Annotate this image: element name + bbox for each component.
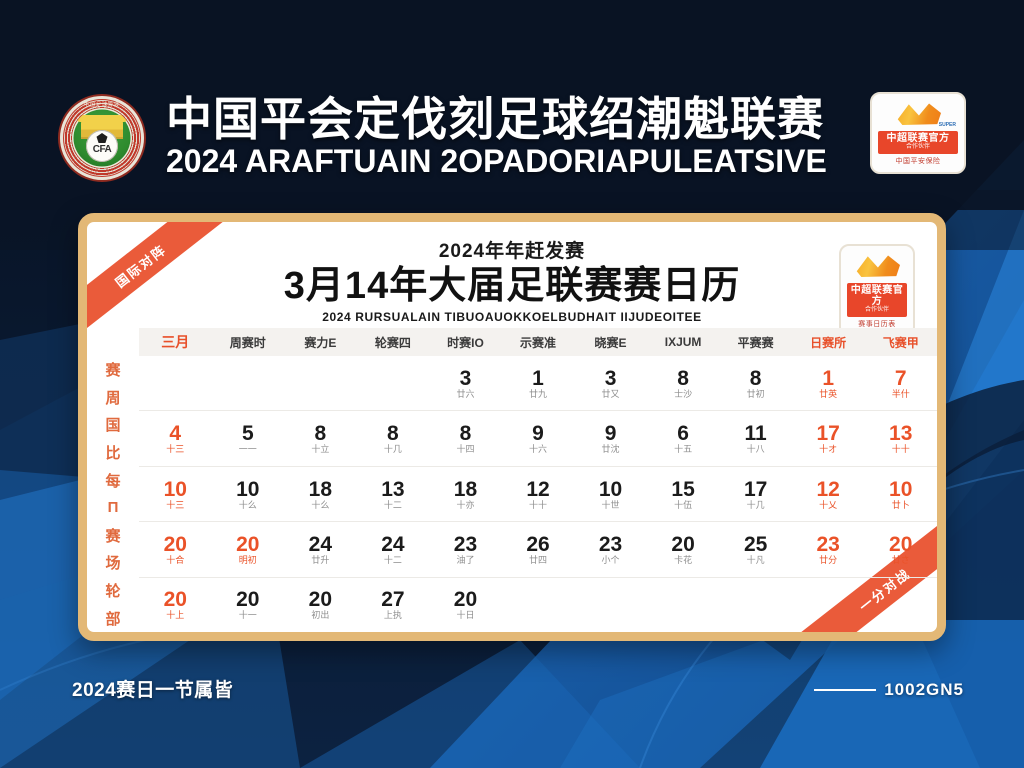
lunar-label: 十オ — [819, 445, 837, 454]
calendar-day-cell[interactable]: 1廿英 — [792, 356, 865, 410]
lunar-label: 十日 — [456, 611, 474, 620]
calendar-day-cell[interactable]: 18十亦 — [429, 467, 502, 521]
calendar-day-cell[interactable]: 4十三 — [139, 411, 212, 465]
side-label-5: П — [87, 494, 139, 522]
day-number: 13 — [381, 479, 404, 500]
calendar-grid: 三月周赛时赛力E轮赛四时赛IO示赛准晓赛EIXJUM平赛赛日赛所飞赛甲 3廿六1… — [139, 328, 937, 632]
lunar-label: 廿卜 — [892, 501, 910, 510]
day-number: 25 — [744, 534, 767, 555]
lunar-label: 明初 — [239, 556, 257, 565]
header-sponsor-badge: SUPER 中超联赛官方 合作伙伴 中国平安保险 — [870, 92, 966, 174]
day-number: 8 — [315, 423, 327, 444]
calendar-day-cell[interactable]: 3廿六 — [429, 356, 502, 410]
calendar-title: 3月14年大届足联赛赛日历 — [87, 265, 937, 308]
sponsor-band-line2: 合作伙伴 — [881, 144, 955, 151]
day-number: 26 — [526, 534, 549, 555]
calendar-day-cell[interactable]: 10十三 — [139, 467, 212, 521]
lunar-label: 廿升 — [311, 556, 329, 565]
calendar-week-row: 3廿六1廿九3廿又8士沙8廿初1廿英7半什 — [139, 356, 937, 411]
flame-logo-icon — [854, 254, 900, 278]
day-number: 20 — [236, 589, 259, 610]
lunar-label: 十三 — [166, 501, 184, 510]
day-number: 10 — [236, 479, 259, 500]
weekday-header-10: 飞赛甲 — [864, 328, 937, 356]
sponsor-logo-sub: SUPER — [939, 122, 956, 128]
calendar-pre-title: 2024年年赶发赛 — [87, 236, 937, 263]
card-sponsor-logo-wrap — [847, 251, 907, 281]
sponsor-footer-text: 中国平安保险 — [896, 156, 941, 166]
side-label-6: 赛 — [87, 522, 139, 550]
lunar-label: 小个 — [602, 556, 620, 565]
lunar-label: 廿四 — [529, 556, 547, 565]
day-number: 6 — [677, 423, 689, 444]
cfa-crest-logo: CFA 中国足球协会 — [60, 96, 144, 180]
poster-canvas: CFA 中国足球协会 中国平会定伐刻足球绍潮魁联赛 2024 ARAFTUAIN… — [0, 0, 1024, 768]
lunar-label: 十立 — [311, 445, 329, 454]
card-sponsor-band-line2: 合作伙伴 — [850, 307, 904, 314]
lunar-label: 十六 — [529, 445, 547, 454]
calendar-day-cell[interactable]: 24廿升 — [284, 522, 357, 576]
calendar-weekday-header: 三月周赛时赛力E轮赛四时赛IO示赛准晓赛EIXJUM平赛赛日赛所飞赛甲 — [139, 328, 937, 356]
day-number: 9 — [532, 423, 544, 444]
side-spacer — [87, 328, 139, 356]
lunar-label: 上执 — [384, 611, 402, 620]
calendar-day-cell[interactable]: 13十二 — [357, 467, 430, 521]
day-number: 3 — [605, 368, 617, 389]
side-label-7: 场 — [87, 549, 139, 577]
poster-title-cn: 中国平会定伐刻足球绍潮魁联赛 — [166, 96, 827, 144]
side-label-3: 比 — [87, 439, 139, 467]
lunar-label: 十八 — [747, 445, 765, 454]
calendar-day-cell[interactable]: 10廿卜 — [864, 467, 937, 521]
lunar-label: 廿英 — [819, 390, 837, 399]
lunar-label: 十亦 — [456, 501, 474, 510]
lunar-label: 十几 — [384, 445, 402, 454]
lunar-label: 十伍 — [674, 501, 692, 510]
side-label-1: 周 — [87, 384, 139, 412]
day-number: 10 — [889, 479, 912, 500]
side-label-8: 轮 — [87, 577, 139, 605]
weekday-header-1: 周赛时 — [212, 328, 285, 356]
day-number: 18 — [454, 479, 477, 500]
day-number: 13 — [889, 423, 912, 444]
poster-title-en: 2024 ARAFTUAIN 2OPADORIAPULEATSIVE — [166, 144, 827, 179]
calendar-day-cell[interactable]: 13十十 — [864, 411, 937, 465]
lunar-label: 廿沈 — [602, 445, 620, 454]
side-label-4: 每 — [87, 466, 139, 494]
calendar-day-cell[interactable]: 20廿さ — [864, 522, 937, 576]
side-label-2: 国 — [87, 411, 139, 439]
lunar-label: 十上 — [166, 611, 184, 620]
lunar-label: 十十 — [529, 501, 547, 510]
calendar-day-cell[interactable]: 8廿初 — [719, 356, 792, 410]
calendar-week-row: 4十三5一一8十立8十几8十四9十六9廿沈6十五11十八17十オ13十十 — [139, 411, 937, 466]
side-label-9: 部 — [87, 604, 139, 632]
calendar-day-cell[interactable]: 20十上 — [139, 578, 212, 632]
calendar-day-cell[interactable]: 10十么 — [212, 467, 285, 521]
calendar-week-row: 20十上20十一20初出27上执20十日 — [139, 578, 937, 632]
day-number: 3 — [460, 368, 472, 389]
lunar-label: 十乂 — [819, 501, 837, 510]
lunar-label: 十世 — [602, 501, 620, 510]
flame-logo-icon — [895, 102, 941, 126]
calendar-day-cell[interactable]: 15十伍 — [647, 467, 720, 521]
day-number: 23 — [599, 534, 622, 555]
calendar-day-cell[interactable]: 20卡花 — [647, 522, 720, 576]
lunar-label: 十二 — [384, 556, 402, 565]
calendar-day-cell[interactable]: 1廿九 — [502, 356, 575, 410]
day-number: 17 — [744, 479, 767, 500]
day-number: 20 — [164, 589, 187, 610]
day-number: 5 — [242, 423, 254, 444]
weekday-header-4: 时赛IO — [429, 328, 502, 356]
lunar-label: 十么 — [311, 501, 329, 510]
weekday-header-6: 晓赛E — [574, 328, 647, 356]
calendar-day-cell[interactable]: 3廿又 — [574, 356, 647, 410]
calendar-day-cell[interactable]: 24十二 — [357, 522, 430, 576]
day-number: 23 — [817, 534, 840, 555]
day-number: 8 — [387, 423, 399, 444]
footer-rule-divider — [814, 689, 876, 691]
calendar-day-cell[interactable]: 25十凡 — [719, 522, 792, 576]
lunar-label: 廿九 — [529, 390, 547, 399]
day-number: 8 — [460, 423, 472, 444]
calendar-day-cell[interactable]: 12十十 — [502, 467, 575, 521]
lunar-label: 一一 — [239, 445, 257, 454]
lunar-label: 十几 — [747, 501, 765, 510]
day-number: 1 — [532, 368, 544, 389]
calendar-day-cell[interactable]: 20十日 — [429, 578, 502, 632]
calendar-week-row: 10十三10十么18十么13十二18十亦12十十10十世15十伍17十几12十乂… — [139, 467, 937, 522]
lunar-label: 廿六 — [456, 390, 474, 399]
weekday-header-5: 示赛准 — [502, 328, 575, 356]
day-number: 10 — [599, 479, 622, 500]
day-number: 10 — [164, 479, 187, 500]
footer-right-group: 1002GN5 — [814, 680, 964, 700]
calendar-day-cell[interactable]: 9十六 — [502, 411, 575, 465]
day-number: 23 — [454, 534, 477, 555]
football-icon: CFA — [86, 130, 118, 162]
day-number: 8 — [750, 368, 762, 389]
calendar-day-cell[interactable]: 23油了 — [429, 522, 502, 576]
footer-left-text: 2024赛日一节属皆 — [72, 675, 233, 702]
crest-inner-shield: CFA — [72, 108, 132, 168]
day-number: 20 — [164, 534, 187, 555]
footer-right-text: 1002GN5 — [884, 680, 964, 700]
calendar-card: 国际对阵 一分对战 2024年年赶发赛 3月14年大届足联赛赛日历 2024 R… — [78, 213, 946, 641]
calendar-day-cell[interactable]: 17十几 — [719, 467, 792, 521]
card-sponsor-badge: 中超联赛官方 合作伙伴 赛事日历表 — [839, 244, 915, 337]
day-number: 15 — [671, 479, 694, 500]
lunar-label: 士沙 — [674, 390, 692, 399]
lunar-label: 十二 — [384, 501, 402, 510]
calendar-day-cell[interactable]: 20初出 — [284, 578, 357, 632]
weekday-header-8: 平赛赛 — [719, 328, 792, 356]
day-number: 20 — [889, 534, 912, 555]
calendar-day-cell[interactable]: 18十么 — [284, 467, 357, 521]
weekday-header-2: 赛力E — [284, 328, 357, 356]
lunar-label: 廿又 — [602, 390, 620, 399]
day-number: 4 — [169, 423, 181, 444]
calendar-day-cell[interactable]: 8士沙 — [647, 356, 720, 410]
card-sponsor-band-line1: 中超联赛官方 — [850, 285, 904, 307]
day-number: 7 — [895, 368, 907, 389]
calendar-subtitle: 2024 RURSUALAIN TIBUOAUOKKOELBUDHAIT IIJ… — [87, 310, 937, 324]
calendar-body: 3廿六1廿九3廿又8士沙8廿初1廿英7半什4十三5一一8十立8十几8十四9十六9… — [139, 356, 937, 632]
day-number: 11 — [745, 423, 767, 444]
lunar-label: 十五 — [674, 445, 692, 454]
day-number: 20 — [309, 589, 332, 610]
calendar-day-cell[interactable]: 8十几 — [357, 411, 430, 465]
calendar-header: 2024年年赶发赛 3月14年大届足联赛赛日历 2024 RURSUALAIN … — [87, 222, 937, 330]
calendar-day-cell[interactable]: 9廿沈 — [574, 411, 647, 465]
calendar-day-cell[interactable]: 8十立 — [284, 411, 357, 465]
lunar-label: 十么 — [239, 501, 257, 510]
day-number: 20 — [671, 534, 694, 555]
day-number: 12 — [817, 479, 840, 500]
day-number: 8 — [677, 368, 689, 389]
lunar-label: 廿さ — [892, 556, 910, 565]
calendar-day-cell[interactable]: 8十四 — [429, 411, 502, 465]
side-label-0: 赛 — [87, 356, 139, 384]
weekday-header-3: 轮赛四 — [357, 328, 430, 356]
calendar-week-row: 20十合20明初24廿升24十二23油了26廿四23小个20卡花25十凡23廿分… — [139, 522, 937, 577]
lunar-label: 廿初 — [747, 390, 765, 399]
sponsor-band-line1: 中超联赛官方 — [881, 133, 955, 144]
weekday-header-9: 日赛所 — [792, 328, 865, 356]
lunar-label: 卡花 — [674, 556, 692, 565]
calendar-side-labels: 赛周国比每П赛场轮部 — [87, 328, 139, 632]
lunar-label: 油了 — [456, 556, 474, 565]
crest-ball-label: CFA — [93, 144, 112, 155]
day-number: 24 — [309, 534, 332, 555]
calendar-day-cell[interactable]: 27上执 — [357, 578, 430, 632]
sponsor-logo-wrap: SUPER — [878, 99, 958, 129]
calendar-day-cell[interactable]: 26廿四 — [502, 522, 575, 576]
day-number: 9 — [605, 423, 617, 444]
weekday-header-7: IXJUM — [647, 328, 720, 356]
day-number: 12 — [526, 479, 549, 500]
lunar-label: 十三 — [166, 445, 184, 454]
day-number: 24 — [381, 534, 404, 555]
calendar-day-cell[interactable]: 20十一 — [212, 578, 285, 632]
lunar-label: 初出 — [311, 611, 329, 620]
calendar-day-cell[interactable]: 5一一 — [212, 411, 285, 465]
day-number: 18 — [309, 479, 332, 500]
day-number: 1 — [822, 368, 834, 389]
lunar-label: 十四 — [456, 445, 474, 454]
sponsor-band: 中超联赛官方 合作伙伴 — [878, 131, 958, 154]
calendar-day-cell[interactable]: 17十オ — [792, 411, 865, 465]
lunar-label: 十十 — [892, 445, 910, 454]
day-number: 20 — [236, 534, 259, 555]
calendar-day-cell[interactable]: 6十五 — [647, 411, 720, 465]
day-number: 20 — [454, 589, 477, 610]
calendar-day-cell[interactable]: 7半什 — [864, 356, 937, 410]
lunar-label: 廿分 — [819, 556, 837, 565]
lunar-label: 半什 — [892, 390, 910, 399]
header-title-group: 中国平会定伐刻足球绍潮魁联赛 2024 ARAFTUAIN 2OPADORIAP… — [166, 96, 827, 179]
calendar-day-cell[interactable]: 11十八 — [719, 411, 792, 465]
card-sponsor-band: 中超联赛官方 合作伙伴 — [847, 283, 907, 317]
lunar-label: 十凡 — [747, 556, 765, 565]
calendar-day-cell[interactable]: 20明初 — [212, 522, 285, 576]
calendar-day-cell[interactable]: 20十合 — [139, 522, 212, 576]
calendar-day-cell[interactable]: 23小个 — [574, 522, 647, 576]
day-number: 27 — [381, 589, 404, 610]
calendar-day-cell[interactable]: 12十乂 — [792, 467, 865, 521]
lunar-label: 十一 — [239, 611, 257, 620]
calendar-day-cell[interactable]: 10十世 — [574, 467, 647, 521]
weekday-header-0: 三月 — [139, 328, 212, 356]
calendar-grid-wrapper: 赛周国比每П赛场轮部 三月周赛时赛力E轮赛四时赛IO示赛准晓赛EIXJUM平赛赛… — [87, 328, 937, 632]
calendar-day-cell[interactable]: 23廿分 — [792, 522, 865, 576]
day-number: 17 — [817, 423, 840, 444]
lunar-label: 十合 — [166, 556, 184, 565]
crest-arc-text: 中国足球协会 — [60, 101, 144, 108]
